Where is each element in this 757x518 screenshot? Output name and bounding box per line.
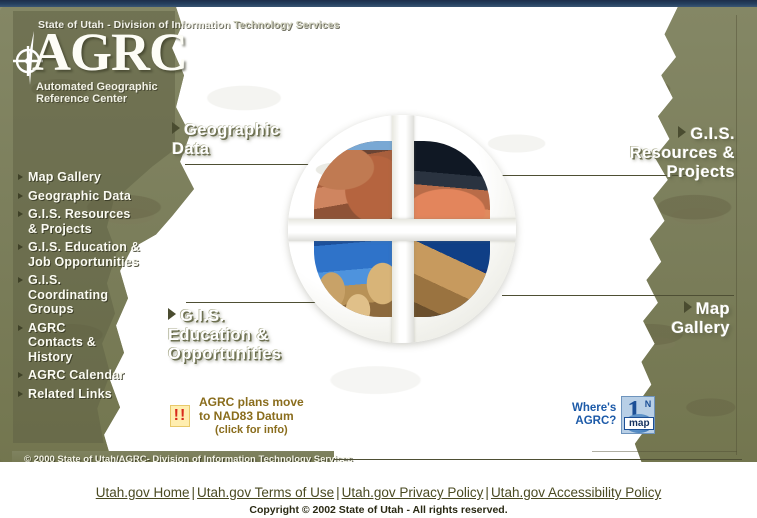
quadrant-label-gis-education[interactable]: G.I.S. Education & Opportunities xyxy=(168,307,368,364)
brand-tagline-secondary: Technology Services xyxy=(233,19,339,31)
agrc-subtitle-line2: Reference Center xyxy=(36,93,158,105)
nad83-notice-text: AGRC plans move to NAD83 Datum (click fo… xyxy=(199,395,304,437)
quadrant-label-gis-resources[interactable]: G.I.S. Resources & Projects xyxy=(520,125,735,182)
sidebar-item-agrc-calendar[interactable]: AGRC Calendar xyxy=(18,368,178,383)
nad83-notice-line1: AGRC plans move xyxy=(199,395,304,409)
footer-copyright: Copyright © 2002 State of Utah - All rig… xyxy=(0,504,757,516)
sidebar-item-geographic-data[interactable]: Geographic Data xyxy=(18,189,178,204)
agrc-logo-subtitle: Automated Geographic Reference Center xyxy=(36,81,158,105)
footer-link-utah-gov-home[interactable]: Utah.gov Home xyxy=(96,485,190,500)
sidebar-item-agrc-contacts[interactable]: AGRC Contacts & History xyxy=(18,321,178,365)
footer-link-privacy-policy[interactable]: Utah.gov Privacy Policy xyxy=(342,485,484,500)
quadrant-label-map-gallery[interactable]: Map Gallery xyxy=(540,300,730,338)
agrc-subtitle-line1: Automated Geographic xyxy=(36,81,158,93)
footer-link-accessibility-policy[interactable]: Utah.gov Accessibility Policy xyxy=(491,485,661,500)
quadrant-label-map-gallery-text: Map Gallery xyxy=(671,300,730,337)
quadrant-label-geographic-data-text: Geographic Data xyxy=(172,121,280,158)
footer-separator: | xyxy=(190,485,198,500)
footer-separator: | xyxy=(483,485,491,500)
quadrant-label-geographic-data[interactable]: Geographic Data xyxy=(172,121,352,159)
wheres-agrc-line2: AGRC? xyxy=(575,415,616,427)
wheres-agrc-button[interactable]: Where's AGRC? 1 N map xyxy=(572,396,655,434)
triangle-bullet-icon xyxy=(684,301,692,313)
top-navy-strip xyxy=(0,0,757,7)
leader-line-map-gallery xyxy=(502,295,734,296)
badge-north-letter: N xyxy=(645,399,652,409)
sidebar-item-related-links[interactable]: Related Links xyxy=(18,387,178,402)
copyright-bar-text: © 2000 State of Utah/AGRC- Division of I… xyxy=(24,454,353,463)
triangle-bullet-icon xyxy=(172,122,180,134)
sidebar-item-gis-resources[interactable]: G.I.S. Resources & Projects xyxy=(18,207,178,236)
quadrant-label-gis-education-text: G.I.S. Education & Opportunities xyxy=(168,307,281,363)
nad83-notice-line3: (click for info) xyxy=(199,423,304,437)
sidebar-navigation: Map Gallery Geographic Data G.I.S. Resou… xyxy=(18,170,178,405)
badge-map-word: map xyxy=(624,417,654,430)
warning-double-exclamation-icon: !! xyxy=(170,405,190,427)
nad83-notice-line2: to NAD83 Datum xyxy=(199,409,294,423)
sidebar-item-gis-education[interactable]: G.I.S. Education & Job Opportunities xyxy=(18,240,178,269)
right-panel-rule-vertical xyxy=(736,15,737,455)
footer-link-terms-of-use[interactable]: Utah.gov Terms of Use xyxy=(197,485,334,500)
triangle-bullet-icon xyxy=(168,308,176,320)
main-stage: State of Utah - Division of Information … xyxy=(0,7,757,462)
right-panel-rule-horizontal xyxy=(592,451,737,452)
right-olive-panel xyxy=(592,7,757,462)
compass-cross-horizontal xyxy=(288,219,516,241)
triangle-bullet-icon xyxy=(678,126,686,138)
agrc-logo-text: AGRC xyxy=(32,25,187,79)
wheres-agrc-line1: Where's xyxy=(572,402,616,414)
copyright-bar: © 2000 State of Utah/AGRC- Division of I… xyxy=(12,451,334,462)
page-footer: Utah.gov Home|Utah.gov Terms of Use|Utah… xyxy=(0,462,757,518)
one-map-badge-icon: 1 N map xyxy=(621,396,655,434)
sidebar-item-gis-coordinating[interactable]: G.I.S. Coordinating Groups xyxy=(18,273,178,317)
footer-links: Utah.gov Home|Utah.gov Terms of Use|Utah… xyxy=(0,484,757,501)
wheres-agrc-text: Where's AGRC? xyxy=(572,402,616,428)
nad83-notice[interactable]: !! AGRC plans move to NAD83 Datum (click… xyxy=(170,395,304,437)
footer-separator: | xyxy=(334,485,342,500)
sidebar-item-map-gallery[interactable]: Map Gallery xyxy=(18,170,178,185)
agrc-homepage: State of Utah - Division of Information … xyxy=(0,0,757,518)
copyright-bar-underline xyxy=(334,459,742,460)
